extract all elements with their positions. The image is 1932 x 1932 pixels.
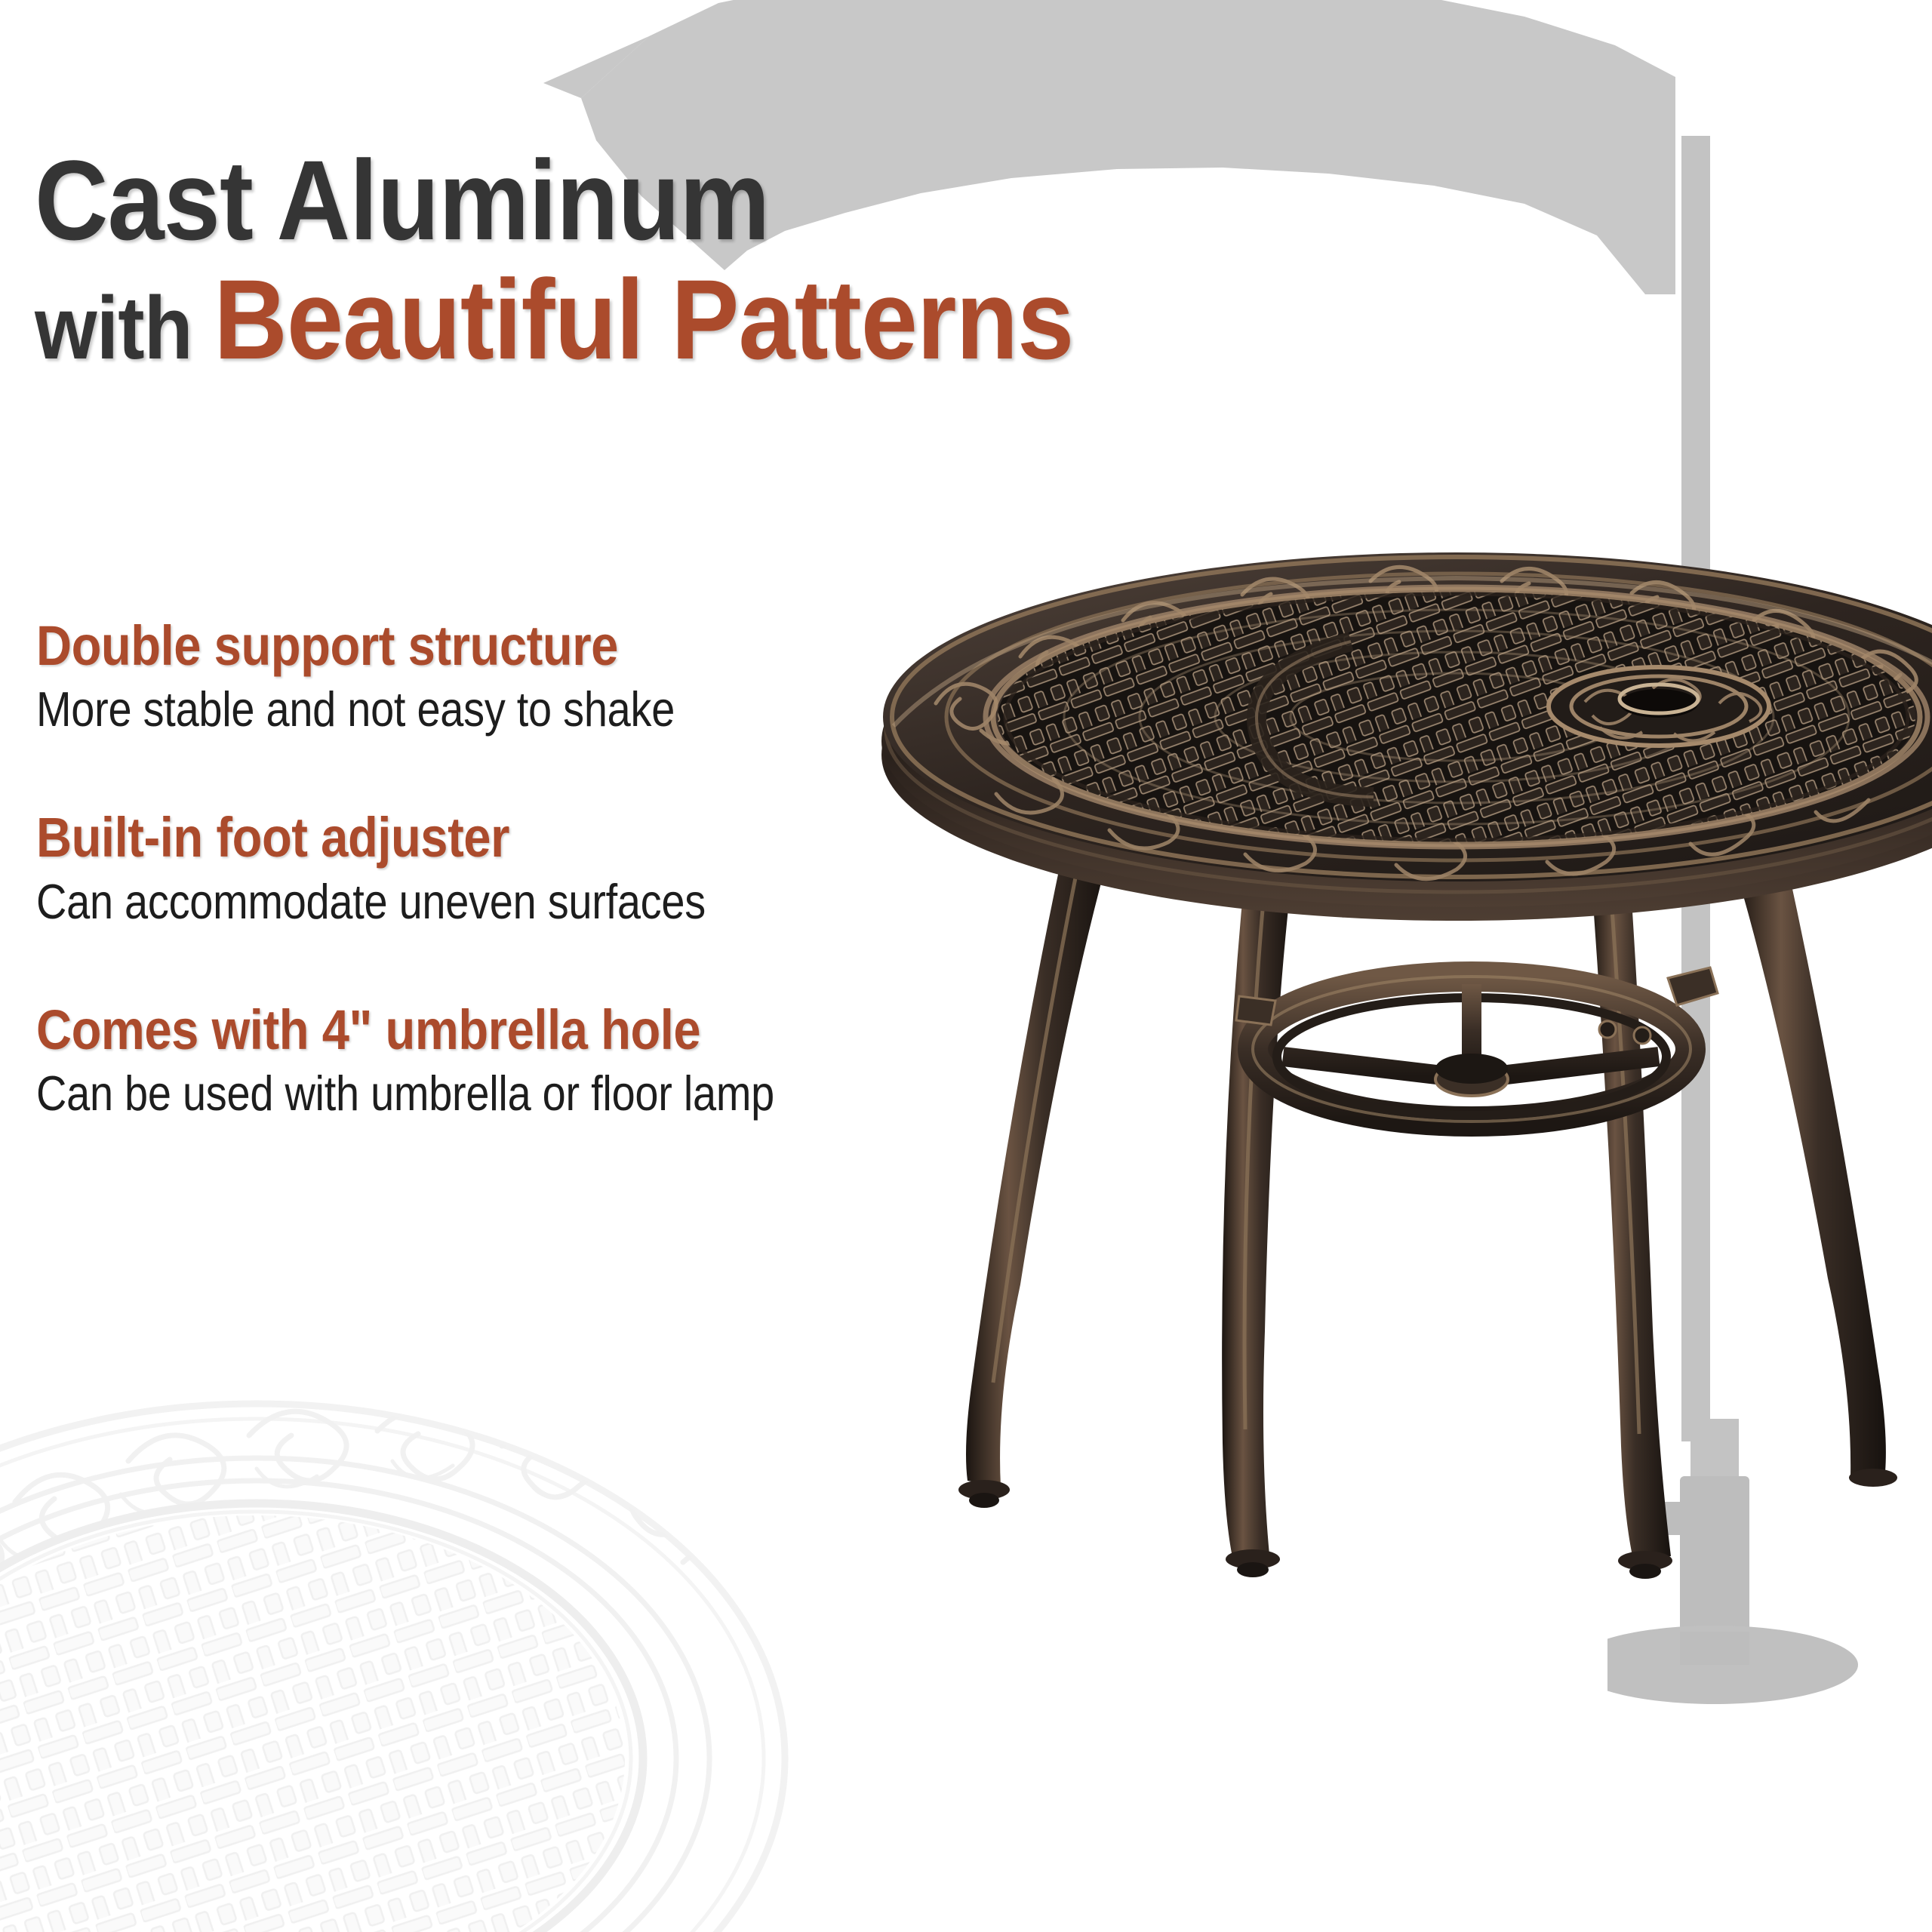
feature-list: Double support structure More stable and…	[36, 617, 927, 1119]
feature-subtitle: More stable and not easy to shake	[36, 684, 802, 735]
infographic-canvas: Cast Aluminum with Beautiful Patterns Do…	[0, 0, 1932, 1932]
tabletop-watermark	[0, 1238, 906, 1932]
headline-line-1: Cast Aluminum	[35, 148, 1393, 254]
feature-subtitle: Can be used with umbrella or floor lamp	[36, 1068, 802, 1119]
page-headline: Cast Aluminum with Beautiful Patterns	[35, 148, 1544, 372]
umbrella-stand-base	[1607, 1419, 1924, 1774]
umbrella-hole-medallion	[1549, 667, 1769, 746]
patio-table-product-photo	[823, 528, 1932, 1751]
headline-line-2-accent: Beautiful Patterns	[214, 256, 1073, 383]
feature-subtitle: Can accommodate uneven surfaces	[36, 876, 802, 928]
tabletop	[881, 552, 1932, 921]
feature-item-double-support: Double support structure More stable and…	[36, 617, 927, 735]
feature-title: Double support structure	[36, 617, 820, 675]
headline-line-2-prefix: with	[35, 278, 214, 378]
umbrella-pole	[1681, 136, 1710, 1441]
feature-item-foot-adjuster: Built-in foot adjuster Can accommodate u…	[36, 809, 927, 927]
base-support-ring	[1236, 968, 1718, 1121]
table-legs	[958, 853, 1897, 1579]
feature-title: Comes with 4" umbrella hole	[36, 1001, 820, 1059]
feature-title: Built-in foot adjuster	[36, 809, 820, 866]
feature-item-umbrella-hole: Comes with 4" umbrella hole Can be used …	[36, 1001, 927, 1119]
headline-line-2: with Beautiful Patterns	[35, 267, 1393, 373]
